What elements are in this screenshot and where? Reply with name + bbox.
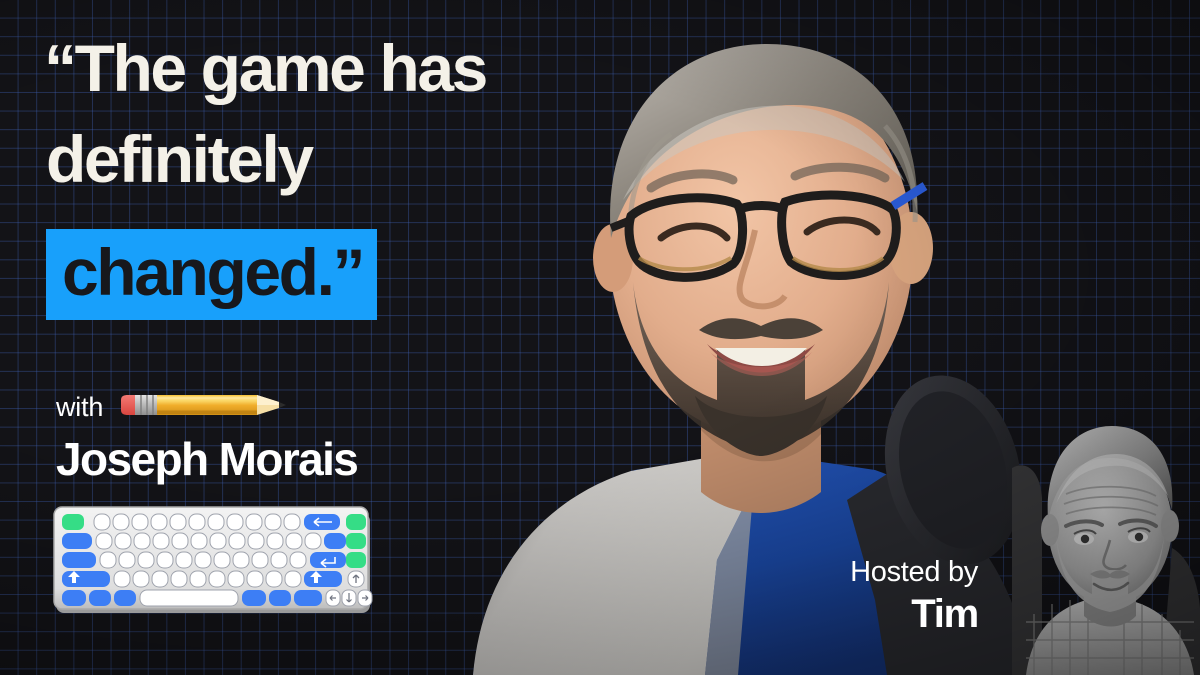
host-name: Tim (850, 591, 978, 637)
quote-block: “The game has definitely changed.” (46, 36, 646, 320)
quote-line-3-highlight: changed.” (46, 229, 377, 320)
pencil-icon (119, 392, 287, 423)
thumbnail-canvas: “The game has definitely changed.” with (0, 0, 1200, 675)
guest-name: Joseph Morais (56, 432, 357, 486)
keyboard-icon (52, 503, 374, 620)
with-label: with (56, 392, 103, 423)
hosted-by-block: Hosted by Tim (850, 557, 978, 637)
hosted-by-label: Hosted by (850, 557, 978, 589)
guest-with-row: with (56, 390, 287, 424)
quote-line-1: “The game has (44, 36, 646, 101)
quote-line-2: definitely (46, 127, 646, 192)
